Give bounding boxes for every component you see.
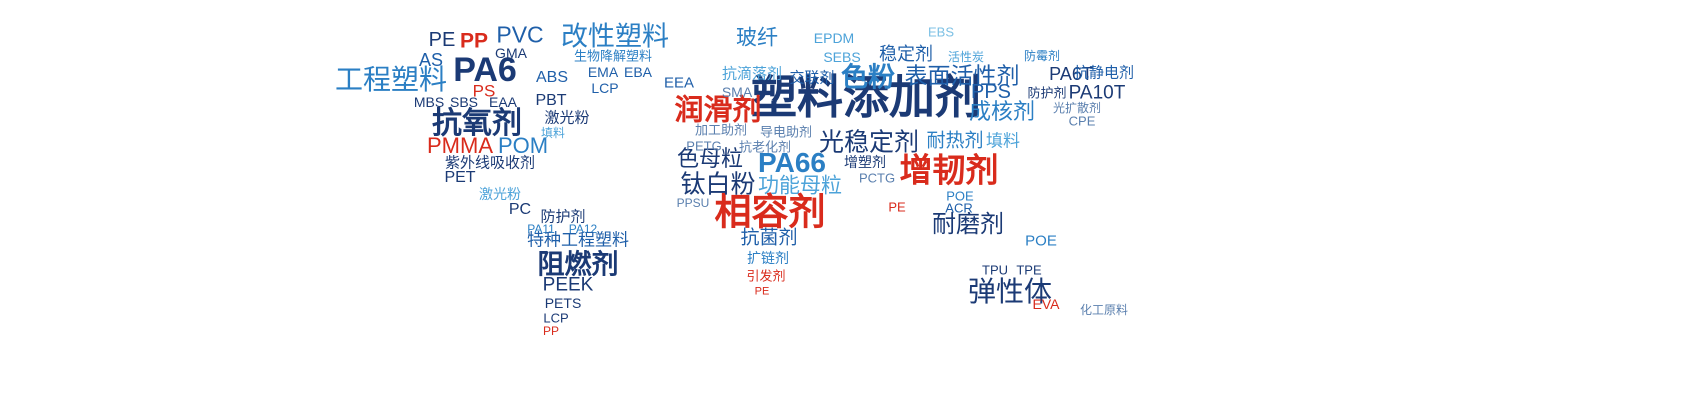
word-cloud-term[interactable]: EBS [928,26,954,39]
word-cloud-term[interactable]: 光扩散剂 [1053,102,1101,114]
word-cloud-term[interactable]: PEEK [543,276,594,295]
word-cloud-canvas: 塑料添加剂相容剂增韧剂润滑剂阻燃剂工程塑料PA6抗氧剂改性塑料色粉表面活性剂光稳… [0,0,1707,400]
word-cloud-term[interactable]: SEBS [823,50,860,64]
word-cloud-term[interactable]: PVC [496,24,543,47]
word-cloud-term[interactable]: EPDM [814,31,854,45]
word-cloud-term[interactable]: 稳定剂 [879,46,933,64]
word-cloud-term[interactable]: 耐磨剂 [932,212,1004,236]
word-cloud-term[interactable]: 特种工程塑料 [527,233,629,250]
word-cloud-term[interactable]: 功能母粒 [758,176,842,197]
word-cloud-term[interactable]: PPS [971,82,1011,102]
word-cloud-term[interactable]: POE [1025,234,1057,249]
word-cloud-term[interactable]: 耐热剂 [926,132,983,151]
word-cloud-term[interactable]: 引发剂 [746,271,785,284]
word-cloud-term[interactable]: MBS [414,95,444,109]
word-cloud-term[interactable]: 抗老化剂 [739,142,791,155]
word-cloud-term[interactable]: 填料 [541,127,565,139]
word-cloud-term[interactable]: GMA [495,46,527,60]
word-cloud-term[interactable]: 防护剂 [1027,88,1066,101]
word-cloud-term[interactable]: PBT [535,93,566,109]
word-cloud-term[interactable]: SBS [450,95,478,109]
word-cloud-term[interactable]: 相容剂 [715,194,826,231]
word-cloud-term[interactable]: 激光粉 [544,111,589,126]
word-cloud-term[interactable]: PP [460,31,488,52]
word-cloud-term[interactable]: 光稳定剂 [819,130,919,155]
word-cloud-term[interactable]: PP [543,325,559,337]
word-cloud-term[interactable]: 激光粉 [479,188,521,202]
word-cloud-term[interactable]: CPE [1069,115,1096,128]
word-cloud-term[interactable]: AS [419,51,443,69]
word-cloud-term[interactable]: PETS [545,296,582,310]
word-cloud-term[interactable]: PET [444,170,475,186]
word-cloud-term[interactable]: 抗静电剂 [1074,66,1134,81]
word-cloud-term[interactable]: ACR [945,202,972,215]
word-cloud-term[interactable]: PC [509,202,531,218]
word-cloud-term[interactable]: 抗滴落剂 [722,67,782,82]
word-cloud-term[interactable]: PETG [686,140,721,153]
word-cloud-term[interactable]: ABS [536,70,568,86]
word-cloud-term[interactable]: 防霉剂 [1024,50,1060,62]
word-cloud-term[interactable]: 导电助剂 [760,127,812,140]
word-cloud-term[interactable]: SMA [722,85,752,99]
word-cloud-term[interactable]: PCTG [859,172,895,185]
word-cloud-term[interactable]: 钛白粉 [680,172,755,197]
word-cloud-term[interactable]: 交联剂 [789,71,834,86]
word-cloud-term[interactable]: 活性炭 [948,51,984,63]
word-cloud-term[interactable]: 改性塑料 [561,24,669,51]
word-cloud-term[interactable]: 增塑剂 [844,156,886,170]
word-cloud-term[interactable]: 成核剂 [969,102,1035,124]
word-cloud-term[interactable]: LCP [543,312,568,325]
word-cloud-term[interactable]: PA10T [1069,84,1126,103]
word-cloud-term[interactable]: EBA [624,65,652,79]
word-cloud-term[interactable]: EVA [1033,297,1060,311]
word-cloud-term[interactable]: 玻纤 [736,28,778,49]
word-cloud-term[interactable]: 填料 [986,134,1020,151]
word-cloud-term[interactable]: 抗菌剂 [740,229,797,248]
word-cloud-term[interactable]: 色粉 [841,65,895,92]
word-cloud-term[interactable]: PE [888,201,905,214]
word-cloud-term[interactable]: 工程塑料 [335,66,447,94]
word-cloud-term[interactable]: EAA [489,95,517,109]
word-cloud-term[interactable]: 化工原料 [1080,304,1128,316]
word-cloud-term[interactable]: PE [429,30,456,50]
word-cloud-term[interactable]: LCP [591,81,618,95]
word-cloud-term[interactable]: 加工助剂 [695,125,747,138]
word-cloud-term[interactable]: EMA [588,65,618,79]
word-cloud-term[interactable]: 生物降解塑料 [574,51,652,64]
word-cloud-term[interactable]: 扩链剂 [747,252,789,266]
word-cloud-term[interactable]: PPSU [677,197,710,209]
word-cloud-term[interactable]: TPE [1016,264,1041,277]
word-cloud-term[interactable]: EEA [664,76,694,91]
word-cloud-term[interactable]: 增韧剂 [900,154,999,187]
word-cloud-term[interactable]: PE [755,287,770,298]
word-cloud-term[interactable]: TPU [982,264,1008,277]
